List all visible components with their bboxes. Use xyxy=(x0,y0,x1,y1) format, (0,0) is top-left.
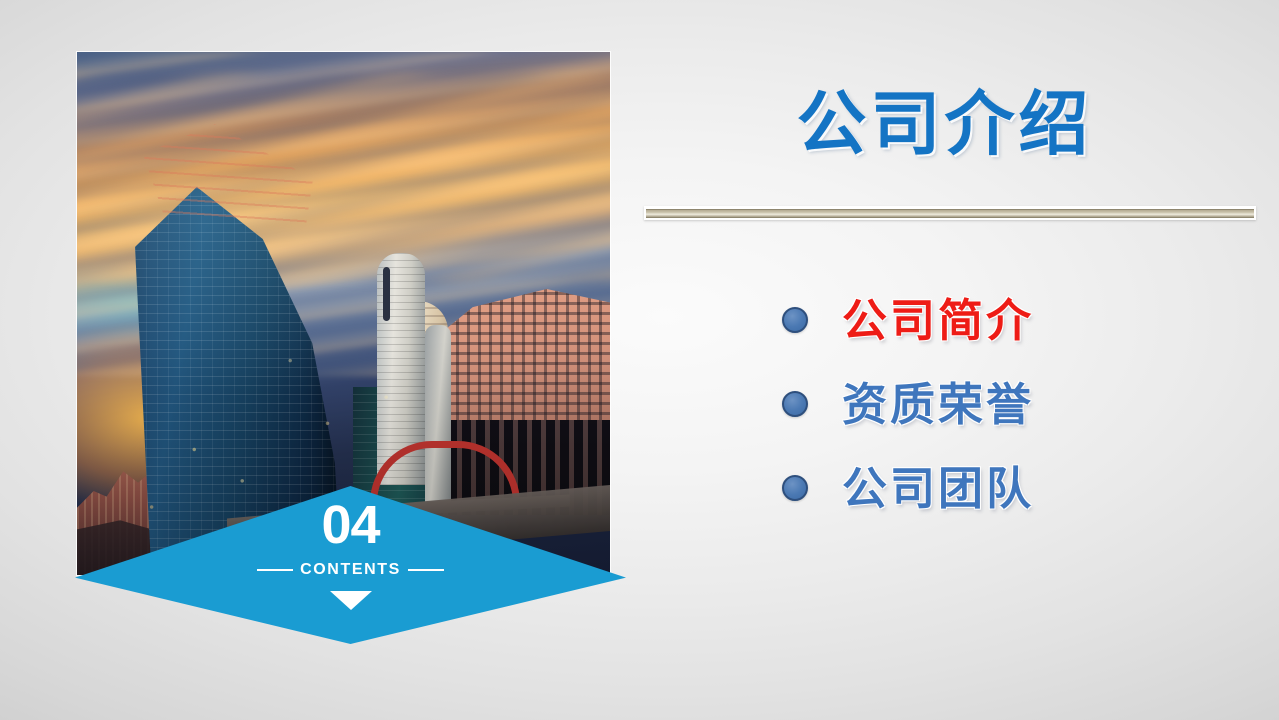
section-number: 04 xyxy=(321,498,379,552)
contents-label: CONTENTS xyxy=(300,561,401,579)
list-item[interactable]: 公司简介 xyxy=(782,278,1252,362)
agenda-item-label-3: 公司团队 xyxy=(842,466,1034,511)
title-divider xyxy=(644,206,1256,220)
filled-circle-icon xyxy=(782,475,808,501)
contents-kicker-row: CONTENTS xyxy=(257,561,444,579)
kicker-rule-right xyxy=(408,569,444,571)
list-item[interactable]: 公司团队 xyxy=(782,446,1252,530)
agenda-item-label-1: 公司简介 xyxy=(842,298,1034,343)
list-item[interactable]: 资质荣誉 xyxy=(782,362,1252,446)
kicker-rule-left xyxy=(257,569,293,571)
presentation-slide: 04 CONTENTS 公司介绍 公司简介 资质荣誉 公司团队 xyxy=(0,0,1279,720)
triangle-down-icon xyxy=(330,591,372,610)
filled-circle-icon xyxy=(782,307,808,333)
agenda-list: 公司简介 资质荣誉 公司团队 xyxy=(782,278,1252,530)
agenda-item-label-2: 资质荣誉 xyxy=(842,382,1034,427)
filled-circle-icon xyxy=(782,391,808,417)
page-title: 公司介绍 xyxy=(640,88,1249,162)
slide-content-right: 公司介绍 公司简介 资质荣誉 公司团队 xyxy=(640,0,1279,720)
